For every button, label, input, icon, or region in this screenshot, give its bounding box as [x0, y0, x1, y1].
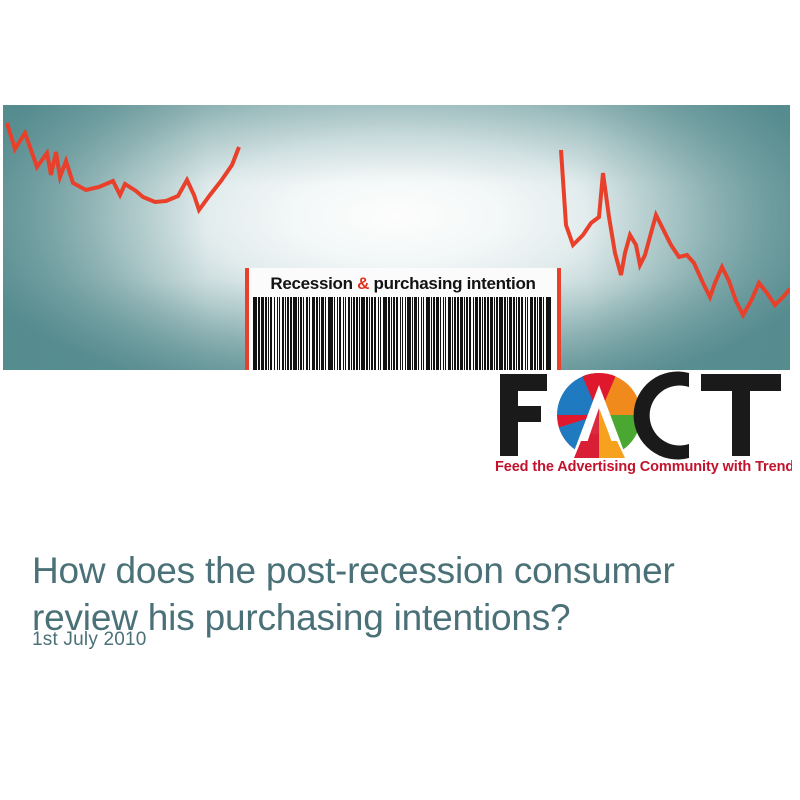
logo-letter-f: [500, 374, 547, 456]
fact-logo-svg: Feed the Advertising Community with Tren…: [489, 368, 792, 476]
logo-letter-t: [701, 374, 781, 456]
barcode-label: Recession & purchasing intention: [245, 271, 561, 297]
barcode-graphic: Recession & purchasing intention: [245, 268, 561, 370]
fact-logo: Feed the Advertising Community with Tren…: [489, 368, 792, 476]
page-date: 1st July 2010: [32, 629, 147, 651]
page-title-line-1: How does the post-recession consumer: [32, 547, 762, 594]
barcode-label-suffix: purchasing intention: [369, 274, 536, 293]
right-trend-polyline: [561, 150, 790, 315]
left-trend-polyline: [7, 123, 239, 210]
barcode-label-prefix: Recession: [270, 274, 357, 293]
barcode-bars: [253, 297, 553, 370]
barcode-gap: [551, 297, 552, 370]
page-title: How does the post-recession consumer rev…: [32, 547, 762, 641]
logo-tagline: Feed the Advertising Community with Tren…: [495, 459, 792, 475]
logo-letter-a-wheel: [557, 373, 641, 458]
logo-letter-c: [634, 372, 689, 460]
barcode-label-ampersand: &: [357, 274, 369, 293]
hero-banner: Recession & purchasing intention: [3, 105, 790, 370]
